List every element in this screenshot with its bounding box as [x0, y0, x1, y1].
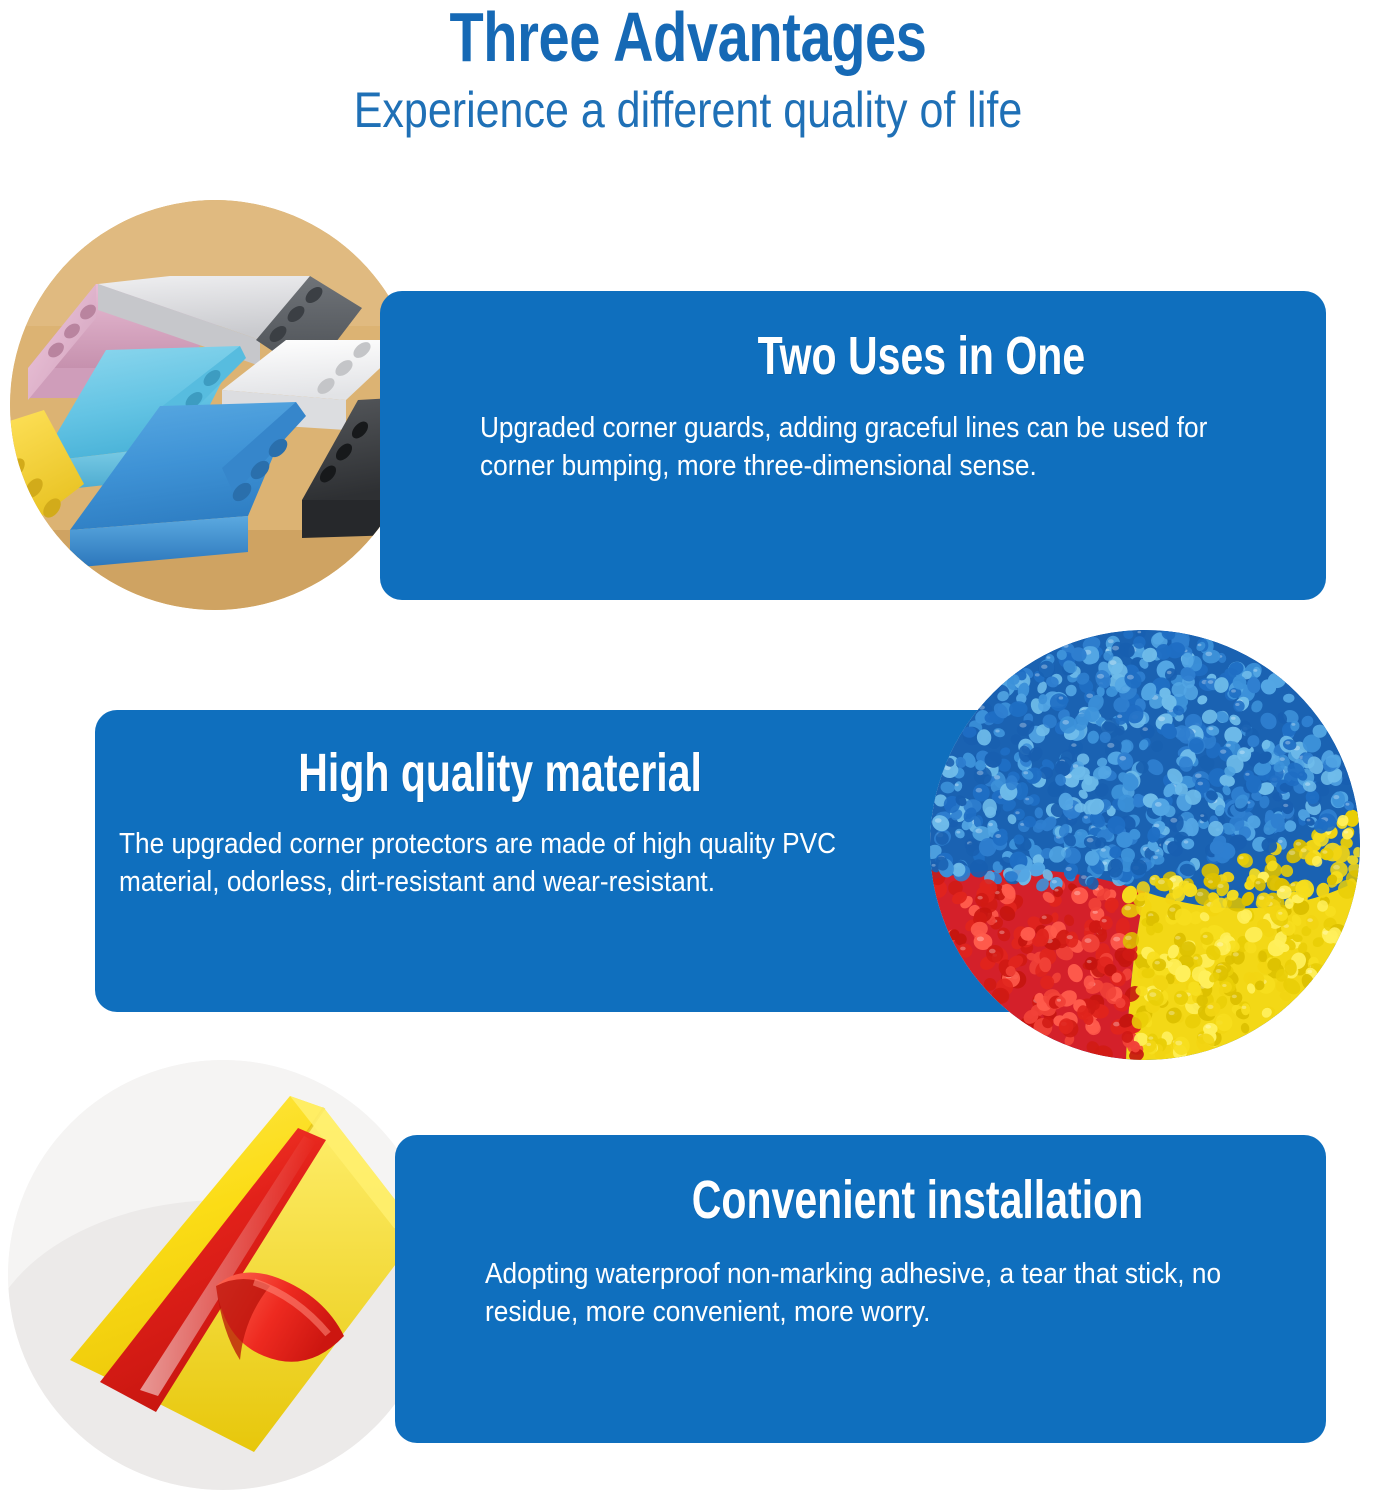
- advantage-3-body: Adopting waterproof non-marking adhesive…: [485, 1255, 1239, 1331]
- advantage-1-photo: [10, 200, 420, 610]
- advantage-2-photo: [930, 630, 1360, 1060]
- page-subtitle: Experience a different quality of life: [96, 82, 1279, 138]
- advantage-card-two-uses-in-one: Two Uses in One Upgraded corner guards, …: [380, 291, 1326, 600]
- advantage-3-title: Convenient installation: [507, 1171, 1215, 1229]
- corner-guards-illustration: [10, 200, 420, 610]
- page-header: Three Advantages Experience a different …: [0, 0, 1376, 175]
- advantage-card-high-quality-material: High quality material The upgraded corne…: [95, 710, 1042, 1012]
- advantage-card-convenient-installation: Convenient installation Adopting waterpr…: [395, 1135, 1326, 1443]
- advantage-2-body: The upgraded corner protectors are made …: [119, 825, 892, 901]
- page-title: Three Advantages: [138, 0, 1239, 76]
- advantage-2-title: High quality material: [209, 744, 929, 802]
- advantage-3-photo: [8, 1060, 438, 1490]
- adhesive-tape-illustration: [8, 1060, 438, 1490]
- advantage-1-body: Upgraded corner guards, adding graceful …: [480, 409, 1244, 485]
- pvc-pellets-illustration: [930, 630, 1360, 1060]
- advantage-1-title: Two Uses in One: [494, 327, 1213, 385]
